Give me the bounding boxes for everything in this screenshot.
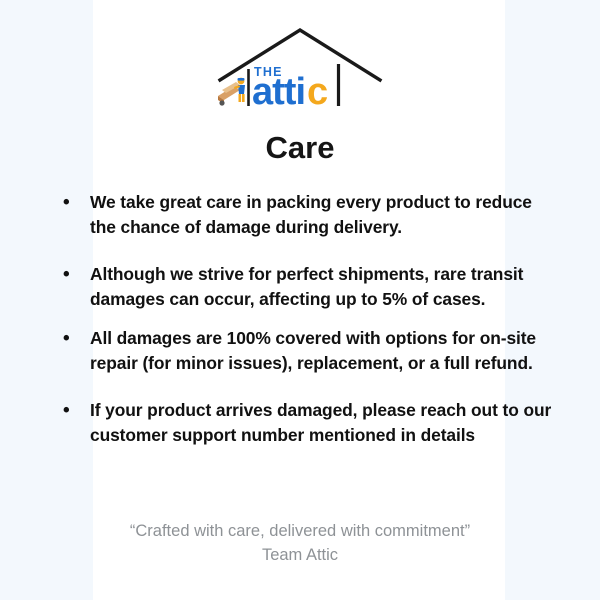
logo-word-primary: atti bbox=[252, 71, 305, 113]
mover-with-furniture-icon bbox=[218, 78, 245, 106]
list-item-text: We take great care in packing every prod… bbox=[90, 190, 558, 240]
bullet-marker-icon: • bbox=[58, 398, 90, 423]
care-policy-card: THE atti c Care • We take great care in … bbox=[0, 0, 600, 600]
page-title: Care bbox=[0, 130, 600, 166]
bullet-marker-icon: • bbox=[58, 190, 90, 215]
care-bullet-list: • We take great care in packing every pr… bbox=[58, 190, 558, 465]
card-content: THE atti c Care • We take great care in … bbox=[0, 0, 600, 600]
list-item: • We take great care in packing every pr… bbox=[58, 190, 558, 240]
list-item: • Although we strive for perfect shipmen… bbox=[58, 262, 558, 312]
footer-team-name: Team Attic bbox=[0, 543, 600, 567]
logo-svg: THE atti c bbox=[210, 24, 390, 116]
list-item-text: Although we strive for perfect shipments… bbox=[90, 262, 558, 312]
footer-signature-block: “Crafted with care, delivered with commi… bbox=[0, 519, 600, 567]
list-item: • If your product arrives damaged, pleas… bbox=[58, 398, 558, 448]
footer-quote: “Crafted with care, delivered with commi… bbox=[0, 519, 600, 543]
bullet-marker-icon: • bbox=[58, 262, 90, 287]
logo-word-accent: c bbox=[307, 71, 328, 113]
list-item-text: All damages are 100% covered with option… bbox=[90, 326, 558, 376]
bullet-marker-icon: • bbox=[58, 326, 90, 351]
list-item: • All damages are 100% covered with opti… bbox=[58, 326, 558, 376]
the-attic-logo: THE atti c bbox=[0, 24, 600, 116]
list-item-text: If your product arrives damaged, please … bbox=[90, 398, 558, 448]
